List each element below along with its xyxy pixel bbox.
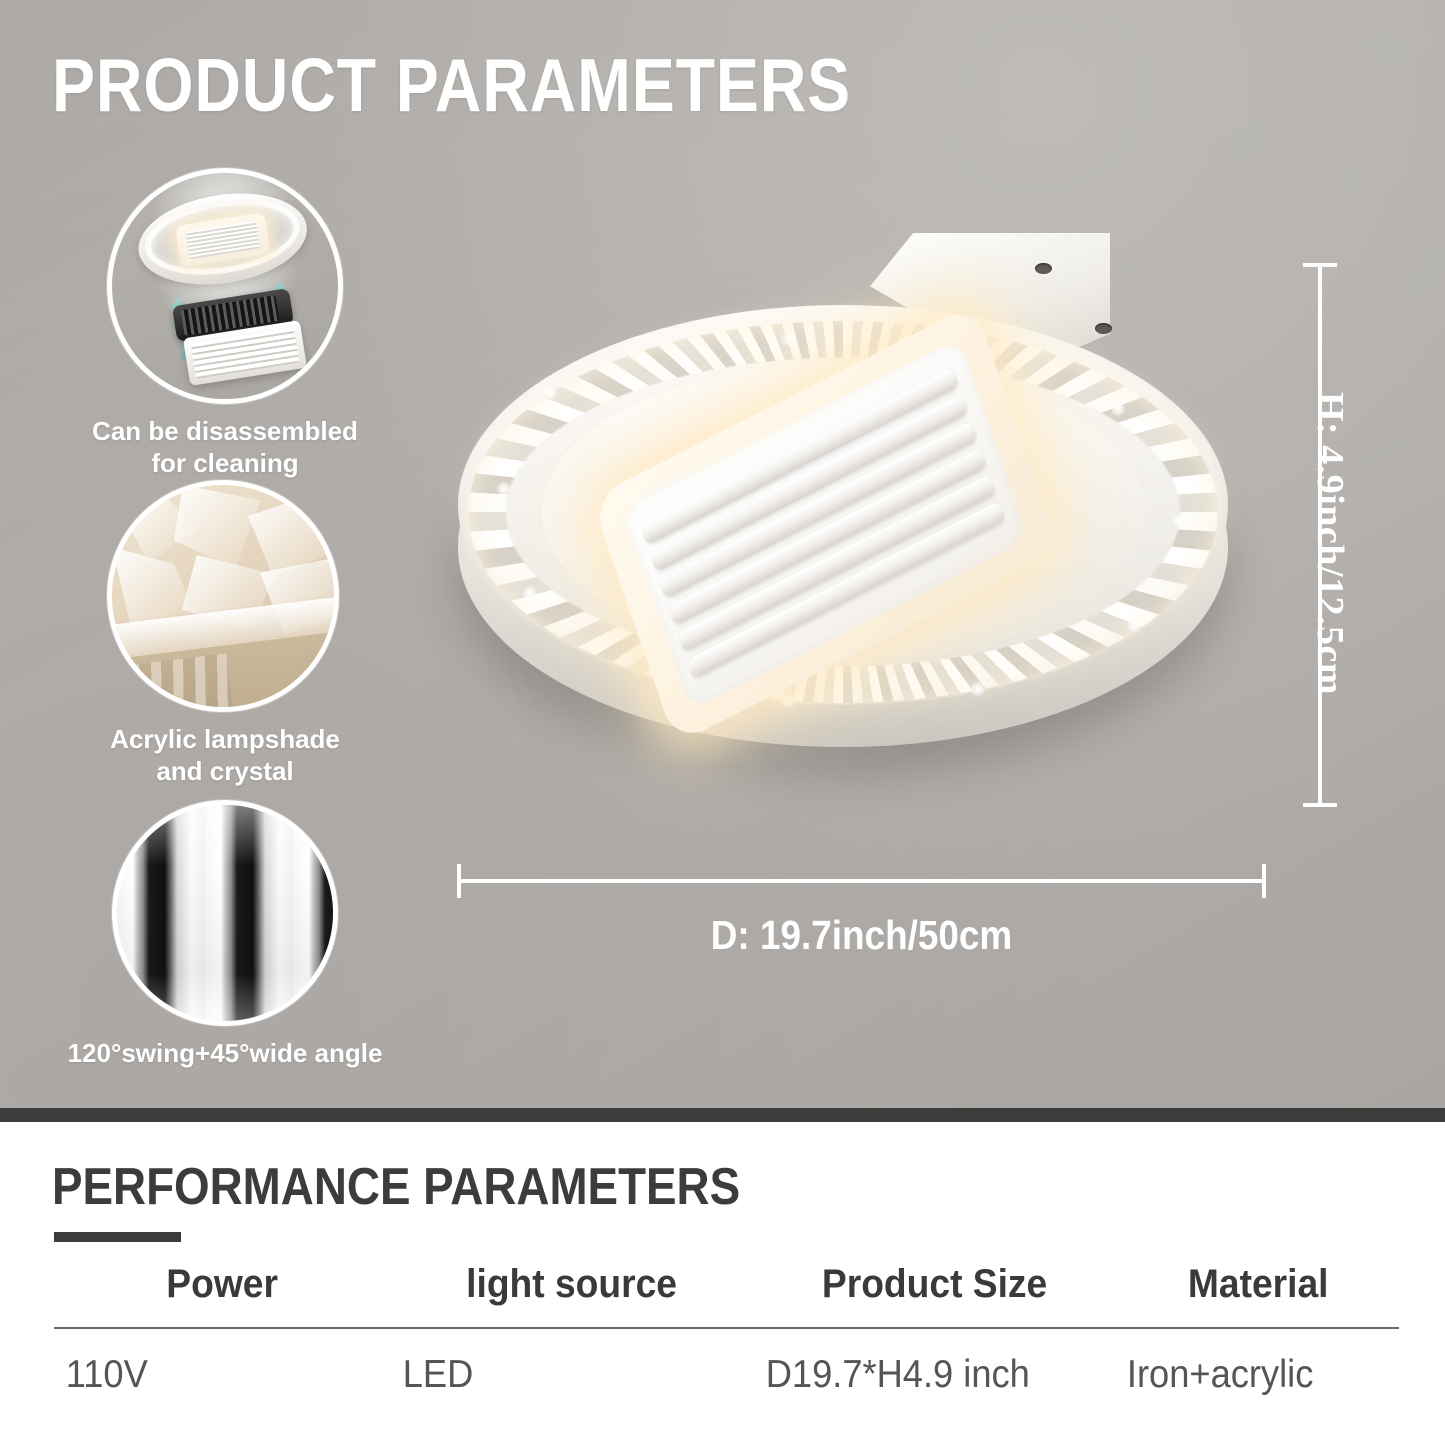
diameter-dimension-cap-left xyxy=(457,864,461,898)
diameter-dimension-label: D: 19.7inch/50cm xyxy=(497,912,1225,959)
height-dimension-cap-bottom xyxy=(1303,803,1337,807)
louver-blade-texture xyxy=(117,805,333,1021)
crystal-facet xyxy=(174,485,260,569)
mount-screw-hole xyxy=(1035,263,1052,274)
feature-image-swing xyxy=(112,800,338,1026)
crystal-sparkle xyxy=(522,585,538,601)
crystal-sparkle xyxy=(496,481,512,497)
crystal-sparkle xyxy=(780,331,796,347)
feature-callout-disassemble: Can be disassembled for cleaning xyxy=(55,168,395,479)
height-dimension-cap-top xyxy=(1303,263,1337,267)
diameter-dimension-line xyxy=(457,879,1266,883)
height-dimension-label: H: 4.9inch/12.5cm xyxy=(1308,392,1352,695)
crystal-facet xyxy=(112,547,196,625)
page-title: PRODUCT PARAMETERS xyxy=(52,42,851,128)
feature-caption-line2: and crystal xyxy=(55,756,395,788)
column-header-power: Power xyxy=(66,1248,379,1328)
cell-material: Iron+acrylic xyxy=(1126,1328,1389,1397)
section-divider xyxy=(0,1108,1445,1122)
crystal-sparkle xyxy=(542,385,558,401)
feature-caption-line1: Acrylic lampshade xyxy=(55,724,395,756)
crystal-sparkle xyxy=(636,351,652,367)
feature-callout-crystal: Acrylic lampshade and crystal xyxy=(55,480,395,787)
feature-caption-swing: 120°swing+45°wide angle xyxy=(40,1038,410,1070)
table-header-row: Power light source Product Size Material xyxy=(54,1248,1399,1328)
mini-fixture-illustration xyxy=(132,182,314,299)
feature-caption-disassemble: Can be disassembled for cleaning xyxy=(55,416,395,479)
feature-caption-line1: Can be disassembled xyxy=(55,416,395,448)
feature-image-disassembly xyxy=(107,168,343,404)
specifications-table: Power light source Product Size Material… xyxy=(54,1248,1399,1397)
crystal-sparkle xyxy=(1172,513,1188,529)
feature-callout-swing: 120°swing+45°wide angle xyxy=(40,800,410,1070)
performance-parameters-panel: PERFORMANCE PARAMETERS Power light sourc… xyxy=(0,1122,1445,1445)
column-header-material: Material xyxy=(1126,1248,1389,1328)
crystal-facet-texture xyxy=(112,485,334,707)
product-hero-image xyxy=(430,215,1280,835)
performance-title: PERFORMANCE PARAMETERS xyxy=(52,1157,740,1217)
title-accent-bar xyxy=(54,1232,181,1242)
cell-product-size: D19.7*H4.9 inch xyxy=(766,1328,1104,1397)
product-parameters-panel: PRODUCT PARAMETERS Can be disassembled f… xyxy=(0,0,1445,1108)
crystal-sparkle xyxy=(618,651,634,667)
column-header-light-source: light source xyxy=(403,1248,741,1328)
fixture-body xyxy=(450,285,1240,785)
table-row: 110V LED D19.7*H4.9 inch Iron+acrylic xyxy=(54,1328,1399,1397)
crystal-sparkle xyxy=(1126,617,1142,633)
crystal-sparkle xyxy=(780,693,796,709)
feature-caption-crystal: Acrylic lampshade and crystal xyxy=(55,724,395,787)
feature-image-crystal xyxy=(107,480,339,712)
crystal-sparkle xyxy=(970,681,986,697)
diameter-dimension-cap-right xyxy=(1262,864,1266,898)
column-header-product-size: Product Size xyxy=(766,1248,1104,1328)
feature-caption-line1: 120°swing+45°wide angle xyxy=(40,1038,410,1070)
crystal-sparkle xyxy=(1110,401,1126,417)
feature-caption-line2: for cleaning xyxy=(55,448,395,480)
cell-power: 110V xyxy=(66,1328,379,1397)
cell-light-source: LED xyxy=(403,1328,741,1397)
